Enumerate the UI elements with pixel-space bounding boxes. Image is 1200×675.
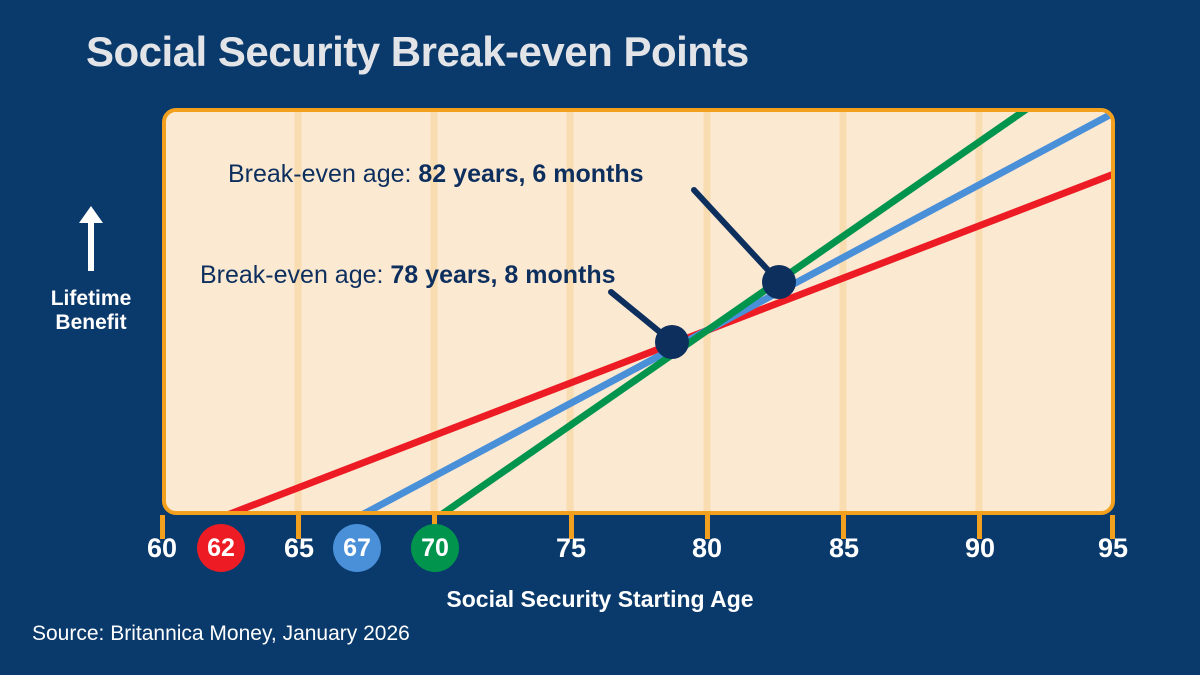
x-axis-label-75: 75 <box>556 533 586 564</box>
y-axis-label-line2: Benefit <box>28 311 154 335</box>
x-axis-label-60: 60 <box>147 533 177 564</box>
age-badge-62[interactable]: 62 <box>197 524 245 572</box>
annotation-82y6m-prefix: Break-even age: <box>228 160 418 188</box>
annotation-78y8m: Break-even age: 78 years, 8 months <box>200 261 616 290</box>
y-axis-label-group: Lifetime Benefit <box>28 205 154 335</box>
x-axis-label-85: 85 <box>829 533 859 564</box>
x-axis-label-80: 80 <box>692 533 722 564</box>
x-axis-labels: 60 65 70 75 80 85 90 95 62 67 70 <box>0 533 1200 579</box>
x-axis-label-95: 95 <box>1098 533 1128 564</box>
annotation-82y6m-value: 82 years, 6 months <box>418 160 643 188</box>
x-axis-title: Social Security Starting Age <box>0 586 1200 613</box>
age-badge-70[interactable]: 70 <box>411 524 459 572</box>
annotation-82y6m: Break-even age: 82 years, 6 months <box>228 160 644 189</box>
breakeven-marker-78y8m <box>655 325 689 359</box>
x-axis-label-65: 65 <box>284 533 314 564</box>
x-axis-label-90: 90 <box>965 533 995 564</box>
source-note: Source: Britannica Money, January 2026 <box>32 622 410 646</box>
annotation-78y8m-prefix: Break-even age: <box>200 261 390 289</box>
annotation-78y8m-value: 78 years, 8 months <box>390 261 615 289</box>
page-title: Social Security Break-even Points <box>86 28 749 76</box>
breakeven-marker-82y6m <box>762 265 796 299</box>
up-arrow-icon <box>77 205 105 273</box>
age-badge-67[interactable]: 67 <box>333 524 381 572</box>
y-axis-label-line1: Lifetime <box>28 287 154 311</box>
